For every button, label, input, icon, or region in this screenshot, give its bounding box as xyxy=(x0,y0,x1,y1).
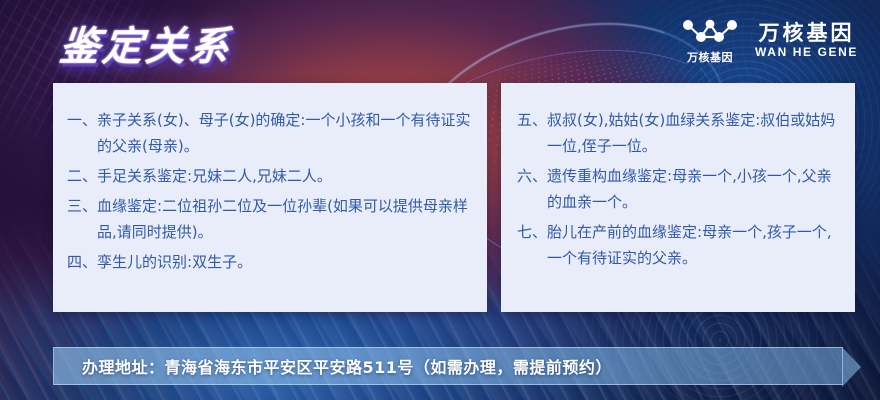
page-title: 鉴定关系 xyxy=(57,14,235,72)
list-item-number: 六、 xyxy=(517,163,547,189)
list-item: 六、 遗传重构血缘鉴定:母亲一个,小孩一个,父亲的血亲一个。 xyxy=(517,163,841,215)
list-item-number: 一、 xyxy=(67,107,97,133)
list-item-text: 手足关系鉴定:兄妹二人,兄妹二人。 xyxy=(97,163,471,189)
brand-mark-label: 万核基因 xyxy=(687,49,733,65)
list-item-number: 二、 xyxy=(67,163,97,189)
address-banner-text: 办理地址：青海省海东市平安区平安路511号（如需办理，需提前预约） xyxy=(54,354,612,378)
list-item-number: 四、 xyxy=(67,249,97,275)
list-item-number: 三、 xyxy=(67,193,97,219)
list-item-text: 遗传重构血缘鉴定:母亲一个,小孩一个,父亲的血亲一个。 xyxy=(547,163,841,215)
list-item: 二、 手足关系鉴定:兄妹二人,兄妹二人。 xyxy=(67,163,471,189)
content-panel-left: 一、 亲子关系(女)、母子(女)的确定:一个小孩和一个有待证实的父亲(母亲)。 … xyxy=(53,83,487,312)
panel-right-list: 五、 叔叔(女),姑姑(女)血绿关系鉴定:叔伯或姑妈一位,侄子一位。 六、 遗传… xyxy=(501,83,855,271)
panel-left-list: 一、 亲子关系(女)、母子(女)的确定:一个小孩和一个有待证实的父亲(母亲)。 … xyxy=(53,83,487,275)
poster-header: 鉴定关系 xyxy=(0,0,880,86)
brand-name-en: WAN HE GENE xyxy=(755,46,858,58)
content-panel-right: 五、 叔叔(女),姑姑(女)血绿关系鉴定:叔伯或姑妈一位,侄子一位。 六、 遗传… xyxy=(501,83,855,312)
address-banner: 办理地址：青海省海东市平安区平安路511号（如需办理，需提前预约） xyxy=(53,347,843,385)
list-item: 七、 胎儿在产前的血缘鉴定:母亲一个,孩子一个,一个有待证实的父亲。 xyxy=(517,219,841,271)
brand-wordmark: 万核基因 WAN HE GENE xyxy=(755,23,858,58)
list-item-text: 孪生儿的识别:双生子。 xyxy=(97,249,471,275)
brand-mark: 万核基因 xyxy=(681,16,739,65)
list-item: 三、 血缘鉴定:二位祖孙二位及一位孙辈(如果可以提供母亲样品,请同时提供)。 xyxy=(67,193,471,245)
brand-lockup: 万核基因 万核基因 WAN HE GENE xyxy=(681,16,858,65)
list-item: 一、 亲子关系(女)、母子(女)的确定:一个小孩和一个有待证实的父亲(母亲)。 xyxy=(67,107,471,159)
list-item-number: 五、 xyxy=(517,107,547,133)
list-item-number: 七、 xyxy=(517,219,547,245)
list-item-text: 胎儿在产前的血缘鉴定:母亲一个,孩子一个,一个有待证实的父亲。 xyxy=(547,219,841,271)
list-item: 四、 孪生儿的识别:双生子。 xyxy=(67,249,471,275)
brand-name-cn: 万核基因 xyxy=(759,23,855,44)
list-item-text: 叔叔(女),姑姑(女)血绿关系鉴定:叔伯或姑妈一位,侄子一位。 xyxy=(547,107,841,159)
list-item-text: 亲子关系(女)、母子(女)的确定:一个小孩和一个有待证实的父亲(母亲)。 xyxy=(97,107,471,159)
poster-canvas: 鉴定关系 xyxy=(0,0,880,400)
list-item-text: 血缘鉴定:二位祖孙二位及一位孙辈(如果可以提供母亲样品,请同时提供)。 xyxy=(97,193,471,245)
molecule-network-icon xyxy=(681,16,739,46)
list-item: 五、 叔叔(女),姑姑(女)血绿关系鉴定:叔伯或姑妈一位,侄子一位。 xyxy=(517,107,841,159)
